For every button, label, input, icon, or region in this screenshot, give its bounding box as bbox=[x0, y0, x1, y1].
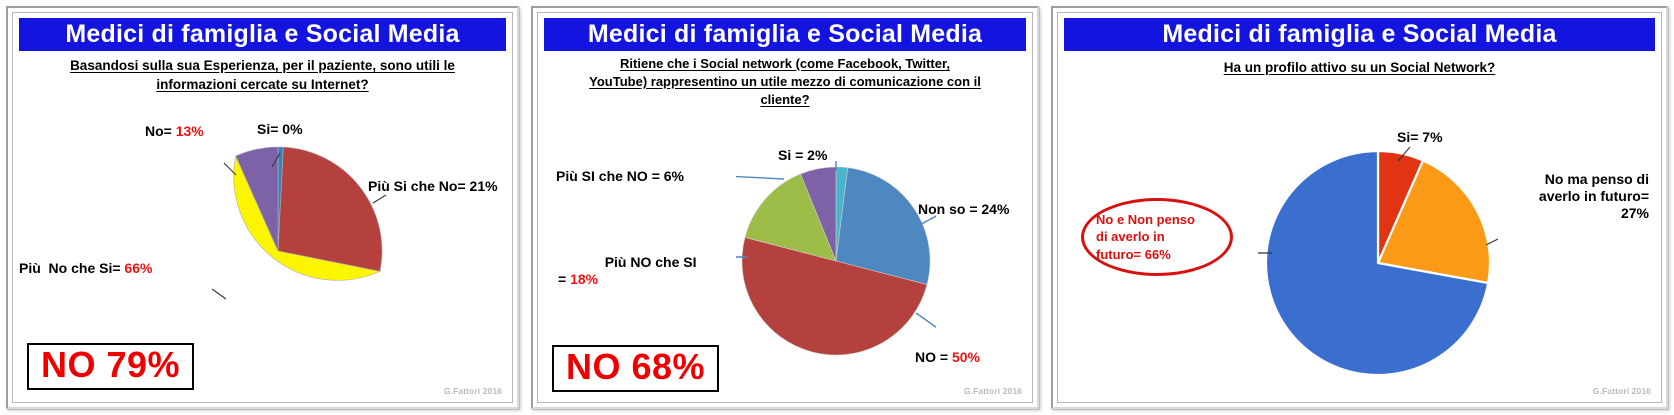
label-no-ma-penso-3-l3: 27% bbox=[1621, 205, 1649, 221]
watermark-3: G.Fattori 2016 bbox=[1593, 386, 1651, 396]
watermark-2: G.Fattori 2016 bbox=[964, 386, 1022, 396]
pie-chart-3: Si= 7% No ma penso diaverlo in futuro=27… bbox=[1058, 13, 1661, 402]
label-si-1: Si= 0% bbox=[257, 121, 303, 138]
label-piu-no-che-si-2-value: 18% bbox=[570, 271, 598, 287]
label-no-1-text: No= bbox=[145, 123, 176, 139]
three-slide-strip: Medici di famiglia e Social Media Basand… bbox=[0, 0, 1674, 415]
slide-frame-3: Medici di famiglia e Social Media Ha un … bbox=[1051, 6, 1668, 409]
leader-line-no bbox=[916, 313, 936, 337]
watermark-1: G.Fattori 2016 bbox=[444, 386, 502, 396]
label-piu-si-che-no-1: Più Si che No= 21% bbox=[368, 178, 498, 195]
label-no-ma-penso-3-l2: averlo in futuro= bbox=[1539, 188, 1649, 204]
leader-line-piu-no-che-si bbox=[212, 289, 226, 299]
leader-line-piu-si-che-no bbox=[736, 175, 784, 179]
label-no-ma-penso-3-l1: No ma penso di bbox=[1545, 171, 1649, 187]
label-no-2-text: NO = bbox=[915, 349, 952, 365]
label-piu-no-che-si-1-text: Più No che Si= bbox=[19, 260, 124, 276]
label-piu-si-che-no-2: Più SI che NO = 6% bbox=[556, 168, 684, 185]
slide-canvas-3: Medici di famiglia e Social Media Ha un … bbox=[1057, 12, 1662, 403]
label-no-ma-penso-3: No ma penso diaverlo in futuro=27% bbox=[1511, 171, 1649, 222]
slide-canvas-2: Medici di famiglia e Social Media Ritien… bbox=[537, 12, 1033, 403]
slide-panel-3: Medici di famiglia e Social Media Ha un … bbox=[1045, 0, 1674, 415]
label-piu-no-che-si-2-l1: Più NO che SI bbox=[605, 254, 697, 270]
summary-label-2: NO 68% bbox=[566, 349, 705, 385]
annot-line-2: di averlo in bbox=[1096, 229, 1165, 244]
slide-frame-2: Medici di famiglia e Social Media Ritien… bbox=[531, 6, 1039, 409]
label-piu-no-che-si-1: Più No che Si= 66% bbox=[19, 260, 152, 277]
pie-slice-piu-si-che-no bbox=[278, 147, 382, 271]
label-si-2: Si = 2% bbox=[778, 147, 827, 164]
summary-box-2: NO 68% bbox=[552, 345, 719, 392]
label-piu-no-che-si-2: Più NO che SI= 18% bbox=[558, 237, 697, 305]
annotation-ellipse-text: No e Non pensodi averlo infuturo= 66% bbox=[1096, 211, 1195, 262]
label-no-2: NO = 50% bbox=[915, 349, 980, 366]
slide-panel-1: Medici di famiglia e Social Media Basand… bbox=[0, 0, 525, 415]
summary-label-1: NO 79% bbox=[41, 347, 180, 383]
pie-svg-2 bbox=[736, 161, 936, 361]
slide-canvas-1: Medici di famiglia e Social Media Basand… bbox=[12, 12, 513, 403]
annot-line-3: futuro= 66% bbox=[1096, 247, 1171, 262]
label-no-1: No= 13% bbox=[145, 123, 204, 140]
pie-svg-1 bbox=[168, 141, 388, 361]
slide-panel-2: Medici di famiglia e Social Media Ritien… bbox=[525, 0, 1045, 415]
label-si-3: Si= 7% bbox=[1397, 129, 1443, 146]
pie-chart-2: Si = 2% Più SI che NO = 6% Più NO che SI… bbox=[538, 13, 1032, 402]
pie-svg-3 bbox=[1258, 143, 1498, 383]
label-piu-no-che-si-1-value: 66% bbox=[124, 260, 152, 276]
label-piu-no-che-si-2-l2: = bbox=[558, 271, 570, 287]
label-non-so-2: Non so = 24% bbox=[918, 201, 1009, 218]
slide-frame-1: Medici di famiglia e Social Media Basand… bbox=[6, 6, 519, 409]
summary-box-1: NO 79% bbox=[27, 343, 194, 390]
leader-line-piu-si-che-no bbox=[373, 195, 386, 203]
label-no-2-value: 50% bbox=[952, 349, 980, 365]
label-no-1-value: 13% bbox=[176, 123, 204, 139]
annotation-ellipse-no-e-non-penso: No e Non pensodi averlo infuturo= 66% bbox=[1081, 198, 1233, 276]
annot-line-1: No e Non penso bbox=[1096, 212, 1195, 227]
